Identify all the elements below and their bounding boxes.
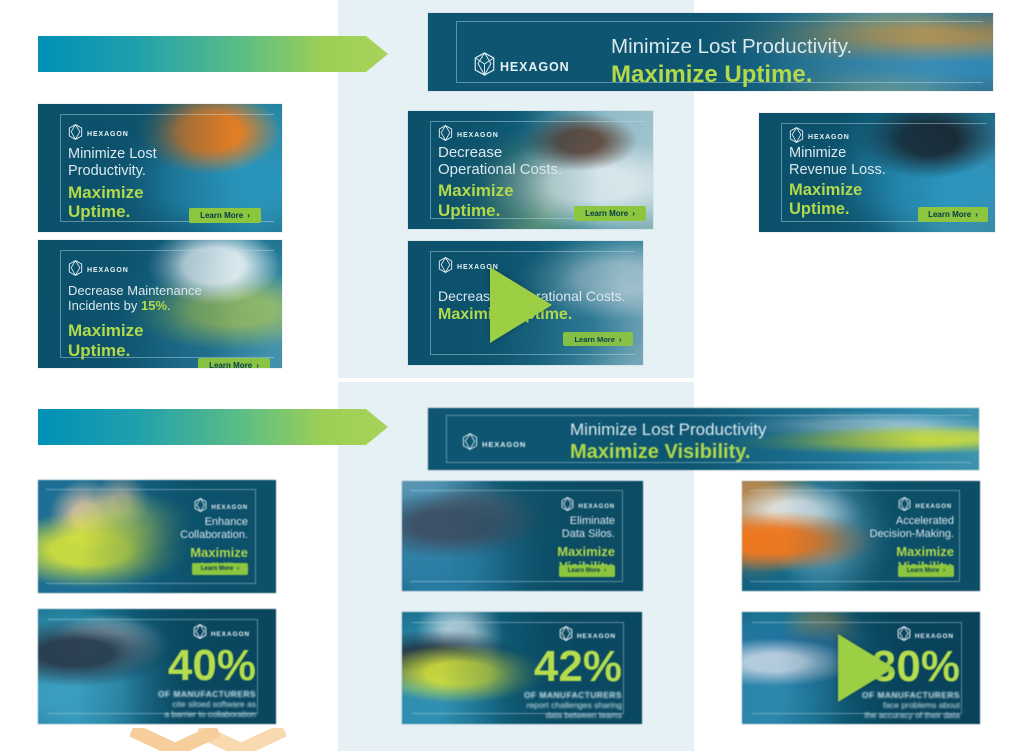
stat-subline-2: report challenges sharing	[524, 700, 622, 710]
stat-value: 42%	[524, 646, 622, 688]
campaign-board: HEXAGON Minimize Lost Productivity. Maxi…	[0, 0, 1024, 751]
hexagon-logo: HEXAGON	[462, 433, 526, 455]
stat-subline-2: cite siloed software as	[158, 699, 256, 709]
hexagon-logo: HEXAGON	[473, 52, 570, 81]
headline-line-2a: Maximize	[438, 181, 562, 201]
learn-more-button[interactable]: Learn More ›	[198, 358, 270, 368]
ad-headline: Decrease Maintenance Incidents by 15%. M…	[68, 283, 202, 361]
learn-more-button[interactable]: Learn More ›	[574, 206, 646, 221]
stat-subline-3: a barrier to collaboration	[158, 709, 256, 719]
headline-line-1b: Revenue Loss.	[789, 162, 886, 179]
headline-line-2a: Maximize	[68, 183, 157, 203]
hexagon-logo-text: HEXAGON	[915, 504, 952, 510]
hexagon-logo: HEXAGON	[438, 125, 499, 146]
ad-accelerated-decision-making[interactable]: HEXAGON Accelerated Decision-Making. Max…	[742, 481, 980, 591]
hexagon-logo-icon	[68, 124, 83, 145]
hexagon-logo-icon	[561, 497, 574, 516]
ad-enhance-collaboration[interactable]: HEXAGON Enhance Collaboration. Maximize …	[38, 480, 276, 593]
headline-line-1: Minimize Lost Productivity.	[611, 35, 852, 59]
hexagon-logo-icon	[194, 498, 207, 517]
headline-line-2b: Uptime.	[68, 341, 202, 361]
decorative-chevron-right	[196, 728, 286, 751]
learn-more-label: Learn More	[585, 209, 628, 218]
hexagon-logo-text: HEXAGON	[211, 505, 248, 511]
campaign-arrow-visibility	[38, 409, 388, 445]
learn-more-button[interactable]: Learn More ›	[189, 208, 261, 223]
headline-line-2: Maximize Uptime.	[611, 61, 852, 89]
learn-more-button[interactable]: Learn More ›	[898, 565, 954, 577]
stat-block: 42% OF MANUFACTURERS report challenges s…	[524, 646, 622, 720]
hexagon-logo-text: HEXAGON	[578, 504, 615, 510]
headline-line-1a: Minimize	[789, 145, 886, 162]
campaign-arrow-uptime	[38, 36, 388, 72]
hexagon-logo-icon	[473, 52, 496, 81]
leaderboard-visibility-headline: Minimize Lost Productivity Maximize Visi…	[570, 420, 767, 464]
hexagon-logo-text: HEXAGON	[482, 440, 526, 449]
ad-headline: Minimize Revenue Loss. Maximize Uptime.	[789, 145, 886, 219]
hexagon-logo-text: HEXAGON	[500, 60, 570, 74]
stat-subline-3: the accuracy of their data	[862, 710, 960, 720]
chevron-right-icon: ›	[247, 211, 250, 220]
chevron-right-icon: ›	[632, 209, 635, 218]
play-triangle-icon[interactable]	[838, 634, 894, 702]
headline-line-1b: Decision-Making.	[870, 528, 954, 541]
hexagon-logo-text: HEXAGON	[457, 132, 499, 139]
leaderboard-uptime[interactable]: HEXAGON Minimize Lost Productivity. Maxi…	[428, 13, 993, 91]
headline-stat-highlight: 15%	[141, 298, 167, 313]
hexagon-logo-icon	[438, 257, 453, 278]
headline-line-1b: Collaboration.	[180, 529, 248, 542]
headline-line-2b: Uptime.	[438, 201, 562, 221]
leaderboard-visibility[interactable]: HEXAGON Minimize Lost Productivity Maxim…	[428, 408, 979, 470]
headline-line-1b-text: Incidents by	[68, 298, 141, 313]
chevron-right-icon: ›	[943, 568, 945, 574]
headline-line-2b: Uptime.	[789, 200, 886, 219]
hexagon-logo-icon	[462, 433, 478, 455]
hexagon-logo-text: HEXAGON	[87, 267, 129, 274]
stat-block: 40% OF MANUFACTURERS cite siloed softwar…	[158, 645, 256, 719]
headline-line-1a: Minimize Lost	[68, 146, 157, 163]
ad-stat-30-percent-video[interactable]: HEXAGON 30% OF MANUFACTURERS face proble…	[742, 612, 980, 724]
chevron-right-icon: ›	[619, 335, 622, 344]
headline-line-1b: Productivity.	[68, 163, 157, 180]
learn-more-label: Learn More	[568, 568, 600, 574]
hexagon-logo: HEXAGON	[68, 260, 129, 281]
headline-line-1b: Incidents by 15%.	[68, 298, 202, 313]
headline-line-2b: Uptime.	[68, 202, 157, 222]
hexagon-logo-icon	[68, 260, 83, 281]
hexagon-logo: HEXAGON	[898, 497, 952, 516]
hexagon-logo-text: HEXAGON	[577, 633, 616, 640]
headline-line-1a: Accelerated	[870, 515, 954, 528]
stat-subline-1: OF MANUFACTURERS	[158, 689, 256, 699]
learn-more-label: Learn More	[201, 566, 233, 572]
ad-headline: Minimize Lost Productivity. Maximize Upt…	[68, 146, 157, 222]
leaderboard-uptime-headline: Minimize Lost Productivity. Maximize Upt…	[611, 35, 852, 89]
learn-more-label: Learn More	[574, 335, 614, 344]
ad-headline: Decrease Operational Costs. Maximize Upt…	[438, 144, 562, 220]
headline-line-1b-period: .	[167, 298, 171, 313]
ad-video-decreased-operational-costs[interactable]: HEXAGON Decreased Operational Costs. Max…	[408, 241, 643, 365]
hexagon-logo-text: HEXAGON	[211, 631, 250, 638]
headline-line-2: Maximize Visibility.	[570, 441, 767, 464]
ad-eliminate-data-silos[interactable]: HEXAGON Eliminate Data Silos. Maximize V…	[402, 481, 643, 591]
headline-line-2a: Maximize	[180, 545, 248, 560]
ad-minimize-revenue-loss[interactable]: HEXAGON Minimize Revenue Loss. Maximize …	[759, 113, 995, 232]
headline-line-1a: Eliminate	[557, 515, 615, 528]
hexagon-logo: HEXAGON	[194, 498, 248, 517]
ad-decrease-operational-costs[interactable]: HEXAGON Decrease Operational Costs. Maxi…	[408, 111, 653, 229]
headline-line-2a: Maximize	[789, 181, 886, 200]
stat-value: 40%	[158, 645, 256, 687]
learn-more-label: Learn More	[907, 568, 939, 574]
hexagon-logo: HEXAGON	[561, 497, 615, 516]
chevron-right-icon: ›	[975, 210, 978, 219]
ad-stat-42-percent[interactable]: HEXAGON 42% OF MANUFACTURERS report chal…	[402, 612, 642, 724]
headline-line-1a: Decrease Maintenance	[68, 283, 202, 298]
learn-more-button[interactable]: Learn More ›	[918, 207, 988, 222]
headline-line-1b: Data Silos.	[557, 528, 615, 541]
play-triangle-icon[interactable]	[490, 267, 552, 343]
stat-subline-3: data between teams	[524, 710, 622, 720]
hexagon-logo-icon	[898, 497, 911, 516]
headline-line-2a: Maximize	[68, 321, 202, 341]
hexagon-logo: HEXAGON	[68, 124, 129, 145]
hexagon-logo-text: HEXAGON	[808, 134, 850, 141]
headline-line-1a: Decrease	[438, 144, 562, 161]
ad-minimize-lost-productivity[interactable]: HEXAGON Minimize Lost Productivity. Maxi…	[38, 104, 282, 232]
headline-line-1: Minimize Lost Productivity	[570, 420, 767, 440]
learn-more-button[interactable]: Learn More ›	[563, 332, 633, 346]
learn-more-label: Learn More	[200, 211, 243, 220]
stat-subline-1: OF MANUFACTURERS	[524, 690, 622, 700]
hexagon-logo-icon	[438, 125, 453, 146]
headline-line-2a: Maximize	[870, 544, 954, 559]
learn-more-button[interactable]: Learn More ›	[559, 565, 615, 577]
headline-line-1b: Operational Costs.	[438, 161, 562, 178]
hexagon-logo-text: HEXAGON	[915, 633, 954, 640]
chevron-right-icon: ›	[256, 361, 259, 368]
headline-line-1a: Enhance	[180, 516, 248, 529]
learn-more-button[interactable]: Learn More ›	[192, 563, 248, 575]
ad-stat-40-percent[interactable]: HEXAGON 40% OF MANUFACTURERS cite siloed…	[38, 609, 276, 724]
learn-more-label: Learn More	[209, 361, 252, 368]
headline-line-2a: Maximize	[557, 544, 615, 559]
learn-more-label: Learn More	[928, 210, 971, 219]
chevron-right-icon: ›	[604, 568, 606, 574]
ad-decrease-maintenance-incidents[interactable]: HEXAGON Decrease Maintenance Incidents b…	[38, 240, 282, 368]
hexagon-logo-text: HEXAGON	[87, 131, 129, 138]
chevron-right-icon: ›	[237, 566, 239, 572]
